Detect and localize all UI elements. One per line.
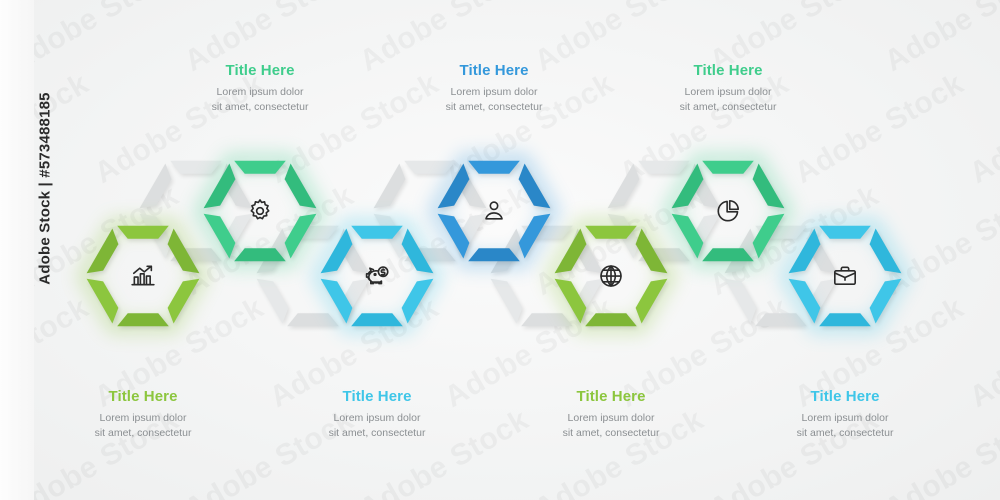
stock-credit-bar: Adobe Stock | #573488185 (0, 0, 34, 500)
step-text-1: Title HereLorem ipsum dolorsit amet, con… (38, 388, 248, 441)
step-description: Lorem ipsum dolorsit amet, consectetur (272, 411, 482, 441)
step-hexagon-7[interactable] (785, 207, 905, 345)
briefcase-icon (785, 207, 905, 345)
step-text-7: Title HereLorem ipsum dolorsit amet, con… (740, 388, 950, 441)
step-title: Title Here (389, 62, 599, 79)
step-text-5: Title HereLorem ipsum dolorsit amet, con… (506, 388, 716, 441)
stock-credit-text: Adobe Stock | #573488185 (37, 19, 54, 359)
step-text-6: Title HereLorem ipsum dolorsit amet, con… (623, 62, 833, 115)
step-description: Lorem ipsum dolorsit amet, consectetur (740, 411, 950, 441)
step-title: Title Here (272, 388, 482, 405)
step-title: Title Here (155, 62, 365, 79)
step-description: Lorem ipsum dolorsit amet, consectetur (623, 85, 833, 115)
step-title: Title Here (740, 388, 950, 405)
step-title: Title Here (38, 388, 248, 405)
step-description: Lorem ipsum dolorsit amet, consectetur (155, 85, 365, 115)
step-title: Title Here (623, 62, 833, 79)
step-text-2: Title HereLorem ipsum dolorsit amet, con… (155, 62, 365, 115)
step-description: Lorem ipsum dolorsit amet, consectetur (389, 85, 599, 115)
step-text-4: Title HereLorem ipsum dolorsit amet, con… (389, 62, 599, 115)
step-description: Lorem ipsum dolorsit amet, consectetur (38, 411, 248, 441)
step-text-3: Title HereLorem ipsum dolorsit amet, con… (272, 388, 482, 441)
step-description: Lorem ipsum dolorsit amet, consectetur (506, 411, 716, 441)
step-title: Title Here (506, 388, 716, 405)
